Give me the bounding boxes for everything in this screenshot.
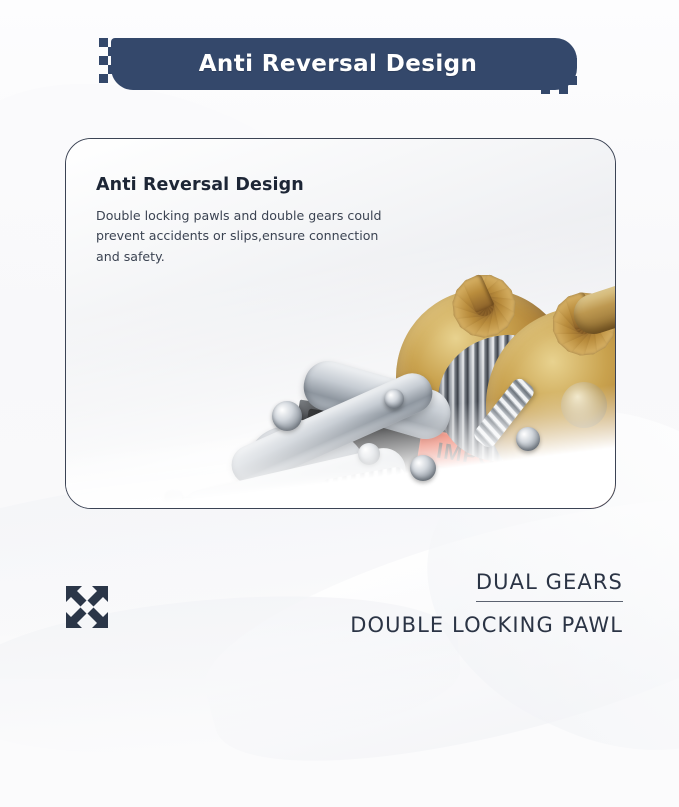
footer: DUAL GEARS DOUBLE LOCKING PAWL: [0, 560, 679, 660]
header-banner: Anti Reversal Design: [99, 38, 577, 90]
card-text-block: Anti Reversal Design Double locking pawl…: [96, 175, 396, 267]
footer-line-dual-gears: DUAL GEARS: [476, 570, 623, 602]
card-heading: Anti Reversal Design: [96, 175, 396, 195]
footer-text-block: DUAL GEARS DOUBLE LOCKING PAWL: [350, 570, 623, 637]
housing-bolt: [410, 455, 436, 481]
feature-photo-card: IMPORTANT Anti Reversal Design Double lo…: [65, 138, 616, 509]
card-description: Double locking pawls and double gears co…: [96, 206, 396, 267]
footer-line-double-locking-pawl: DOUBLE LOCKING PAWL: [350, 613, 623, 637]
banner-title: Anti Reversal Design: [99, 38, 577, 90]
housing-bolt: [516, 427, 540, 451]
expand-arrows-icon: [62, 582, 112, 632]
bolt: [384, 389, 404, 409]
